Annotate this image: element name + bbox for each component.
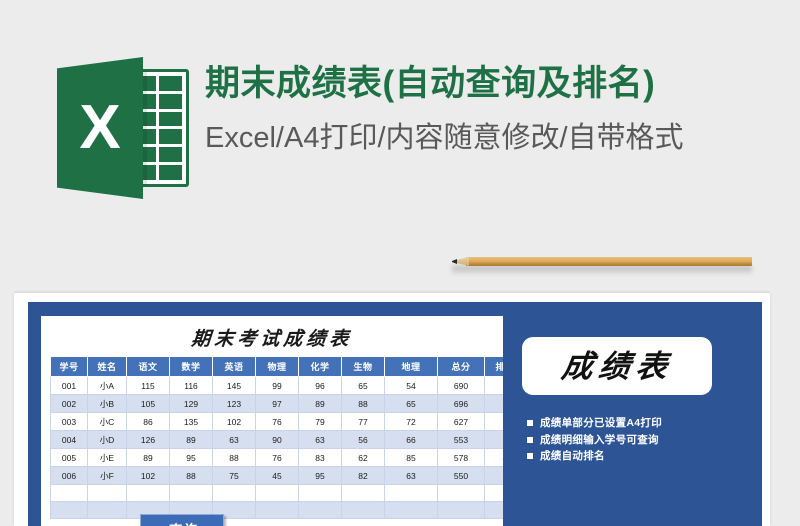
page-subtitle: Excel/A4打印/内容随意修改/自带格式 [205,121,785,156]
table-cell: 小E [88,449,127,467]
table-cell-empty [213,485,256,502]
table-cell: 72 [385,413,438,431]
table-cell: 89 [170,431,213,449]
table-cell-empty [342,502,385,519]
table-cell: 66 [385,431,438,449]
table-cell: 86 [127,413,170,431]
table-cell: 123 [213,395,256,413]
table-cell: 小C [88,413,127,431]
table-cell-empty [51,502,88,519]
feature-list: 成绩单部分已设置A4打印成绩明细输入学号可查询成绩自动排名 [527,418,747,468]
table-cell: 99 [256,377,299,395]
table-cell-empty [88,485,127,502]
table-cell: 696 [438,395,485,413]
table-cell: 89 [127,449,170,467]
table-cell: 5 [485,431,504,449]
feature-label: 成绩明细输入学号可查询 [540,435,659,446]
column-header-rank: 排名 [485,357,504,377]
table-cell: 45 [256,467,299,485]
table-cell: 1 [485,395,504,413]
table-cell: 3 [485,413,504,431]
table-cell: 627 [438,413,485,431]
table-cell: 4 [485,449,504,467]
table-row: 005小E899588768362855784 [51,449,504,467]
column-header-math: 数学 [170,357,213,377]
table-cell: 102 [213,413,256,431]
brand-title: 成绩表 [559,351,674,382]
table-cell: 135 [170,413,213,431]
bullet-square-icon [527,453,533,459]
excel-x-letter: X [57,57,143,199]
pencil-body [466,257,752,266]
table-cell-empty [438,485,485,502]
table-cell-empty [299,485,342,502]
table-row: 006小F1028875459582635506 [51,467,504,485]
table-cell: 553 [438,431,485,449]
table-cell: 77 [342,413,385,431]
table-cell: 004 [51,431,88,449]
feature-label: 成绩自动排名 [540,451,605,462]
table-row-empty [51,502,504,519]
table-cell: 小D [88,431,127,449]
spreadsheet-title: 期末考试成绩表 [41,324,503,351]
table-row: 004小D1268963906356665535 [51,431,504,449]
table-cell: 85 [385,449,438,467]
column-header-biology: 生物 [342,357,385,377]
table-cell: 88 [342,395,385,413]
table-cell: 56 [342,431,385,449]
table-cell: 129 [170,395,213,413]
header-text-block: 期末成绩表(自动查询及排名) Excel/A4打印/内容随意修改/自带格式 [205,62,785,156]
table-row: 001小A115116145999665546902 [51,377,504,395]
page-title: 期末成绩表(自动查询及排名) [205,62,785,106]
table-cell-empty [342,485,385,502]
feature-list-item: 成绩单部分已设置A4打印 [527,418,747,429]
column-header-chinese: 语文 [127,357,170,377]
table-cell-empty [485,485,504,502]
table-row: 002小B105129123978988656961 [51,395,504,413]
table-cell: 96 [299,377,342,395]
table-cell: 75 [213,467,256,485]
column-header-chemistry: 化学 [299,357,342,377]
table-cell: 63 [299,431,342,449]
table-cell: 578 [438,449,485,467]
table-cell-empty [385,502,438,519]
table-cell: 88 [213,449,256,467]
pencil-graphite-tip [452,259,457,264]
table-cell: 63 [213,431,256,449]
table-cell: 63 [385,467,438,485]
table-cell: 005 [51,449,88,467]
table-cell-empty [256,485,299,502]
column-header-physics: 物理 [256,357,299,377]
table-cell-empty [88,502,127,519]
table-cell: 115 [127,377,170,395]
table-cell: 126 [127,431,170,449]
table-cell: 54 [385,377,438,395]
feature-list-item: 成绩明细输入学号可查询 [527,435,747,446]
table-cell: 550 [438,467,485,485]
table-cell: 65 [385,395,438,413]
table-cell: 小A [88,377,127,395]
table-cell: 89 [299,395,342,413]
bullet-square-icon [527,437,533,443]
table-cell: 88 [170,467,213,485]
table-cell-empty [127,485,170,502]
table-cell: 003 [51,413,88,431]
table-cell: 76 [256,413,299,431]
table-cell: 002 [51,395,88,413]
table-cell: 97 [256,395,299,413]
brand-card: 成绩表 [522,337,712,395]
table-cell: 6 [485,467,504,485]
pencil-shadow [452,266,752,275]
table-cell-empty [485,502,504,519]
table-cell: 95 [170,449,213,467]
excel-logo: X [57,57,197,199]
grade-table-body: 001小A115116145999665546902002小B105129123… [51,377,504,519]
table-cell: 006 [51,467,88,485]
bullet-square-icon [527,420,533,426]
table-cell: 82 [342,467,385,485]
table-cell-empty [170,485,213,502]
table-cell: 690 [438,377,485,395]
grade-table: 学号 姓名 语文 数学 英语 物理 化学 生物 地理 总分 排名 001小A11… [50,356,503,519]
table-cell: 001 [51,377,88,395]
column-header-student-id: 学号 [51,357,88,377]
column-header-english: 英语 [213,357,256,377]
table-cell: 小F [88,467,127,485]
info-panel: 成绩表 成绩单部分已设置A4打印成绩明细输入学号可查询成绩自动排名 [512,316,750,526]
query-button[interactable]: 查询 [140,514,224,526]
pencil-wood-cone [455,257,469,266]
table-row-empty [51,485,504,502]
table-cell: 79 [299,413,342,431]
table-cell: 102 [127,467,170,485]
table-cell: 116 [170,377,213,395]
table-row: 003小C86135102767977726273 [51,413,504,431]
table-cell-empty [51,485,88,502]
table-cell: 95 [299,467,342,485]
header-banner: X 期末成绩表(自动查询及排名) Excel/A4打印/内容随意修改/自带格式 [0,0,800,238]
column-header-total: 总分 [438,357,485,377]
column-header-geography: 地理 [385,357,438,377]
table-cell: 145 [213,377,256,395]
spreadsheet-area: 期末考试成绩表 学号 姓名 语文 数学 英语 物理 化学 生物 地理 总分 排名… [41,316,503,526]
pencil-icon [452,256,752,270]
column-header-name: 姓名 [88,357,127,377]
table-cell: 90 [256,431,299,449]
table-cell: 105 [127,395,170,413]
table-header-row: 学号 姓名 语文 数学 英语 物理 化学 生物 地理 总分 排名 [51,357,504,377]
feature-list-item: 成绩自动排名 [527,451,747,462]
table-cell: 83 [299,449,342,467]
feature-label: 成绩单部分已设置A4打印 [540,418,662,429]
table-cell: 2 [485,377,504,395]
table-cell-empty [385,485,438,502]
table-cell-empty [256,502,299,519]
table-cell: 76 [256,449,299,467]
table-cell: 65 [342,377,385,395]
table-cell-empty [299,502,342,519]
table-cell: 62 [342,449,385,467]
table-cell-empty [438,502,485,519]
table-cell: 小B [88,395,127,413]
